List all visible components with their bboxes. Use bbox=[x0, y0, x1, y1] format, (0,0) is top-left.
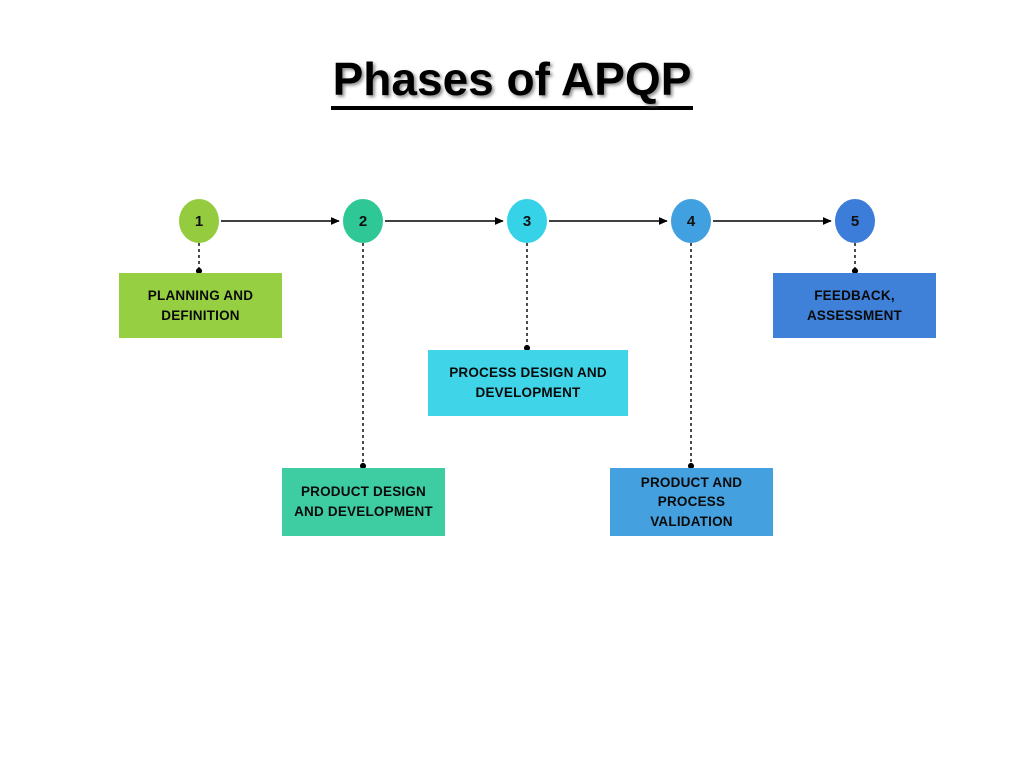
phase-node-2[interactable]: 2 bbox=[343, 199, 383, 243]
diagram-canvas: Phases of APQP 1 2 3 4 5 PLANNING AND DE… bbox=[0, 0, 1024, 768]
phase-node-4[interactable]: 4 bbox=[671, 199, 711, 243]
phase-box-label: PROCESS DESIGN AND DEVELOPMENT bbox=[449, 363, 607, 402]
phase-node-1[interactable]: 1 bbox=[179, 199, 219, 243]
phase-node-label: 4 bbox=[687, 213, 695, 230]
phase-box-label: PRODUCT DESIGN AND DEVELOPMENT bbox=[294, 482, 433, 521]
phase-box-3[interactable]: PROCESS DESIGN AND DEVELOPMENT bbox=[428, 350, 628, 416]
phase-box-1[interactable]: PLANNING AND DEFINITION bbox=[119, 273, 282, 338]
phase-box-5[interactable]: FEEDBACK, ASSESSMENT bbox=[773, 273, 936, 338]
phase-node-3[interactable]: 3 bbox=[507, 199, 547, 243]
phase-box-2[interactable]: PRODUCT DESIGN AND DEVELOPMENT bbox=[282, 468, 445, 536]
phase-node-label: 3 bbox=[523, 213, 531, 230]
phase-box-4[interactable]: PRODUCT AND PROCESS VALIDATION bbox=[610, 468, 773, 536]
phase-node-label: 5 bbox=[851, 213, 859, 230]
phase-box-label: FEEDBACK, ASSESSMENT bbox=[807, 286, 902, 325]
phase-node-5[interactable]: 5 bbox=[835, 199, 875, 243]
page-title-text: Phases of APQP bbox=[331, 55, 694, 110]
phase-box-label: PLANNING AND DEFINITION bbox=[148, 286, 253, 325]
page-title: Phases of APQP bbox=[0, 52, 1024, 110]
phase-box-label: PRODUCT AND PROCESS VALIDATION bbox=[641, 473, 742, 532]
phase-node-label: 2 bbox=[359, 213, 367, 230]
phase-node-label: 1 bbox=[195, 213, 203, 230]
